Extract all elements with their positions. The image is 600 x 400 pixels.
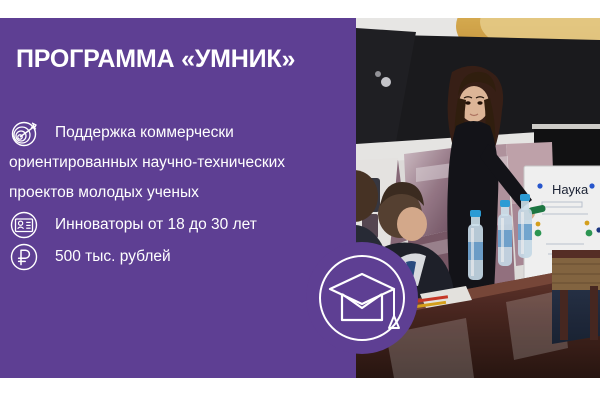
list-item-label: Поддержка коммерчески ориентированных на… <box>9 118 309 208</box>
list-item-label: Инноваторы от 18 до 30 лет <box>9 210 309 240</box>
bullet-list: Поддержка коммерчески ориентированных на… <box>9 118 309 274</box>
graduation-cap-icon <box>314 250 410 346</box>
list-item: Инноваторы от 18 до 30 лет <box>9 210 309 240</box>
target-arrow-icon <box>9 118 47 148</box>
ruble-icon <box>9 242 47 272</box>
list-item: 500 тыс. рублей <box>9 242 309 272</box>
id-card-icon <box>9 210 47 240</box>
list-item-label: 500 тыс. рублей <box>9 242 309 272</box>
page-title: ПРОГРАММА «УМНИК» <box>16 46 346 74</box>
graduation-badge <box>306 242 418 354</box>
program-banner: Наука <box>0 0 600 400</box>
list-item: Поддержка коммерчески ориентированных на… <box>9 118 309 208</box>
